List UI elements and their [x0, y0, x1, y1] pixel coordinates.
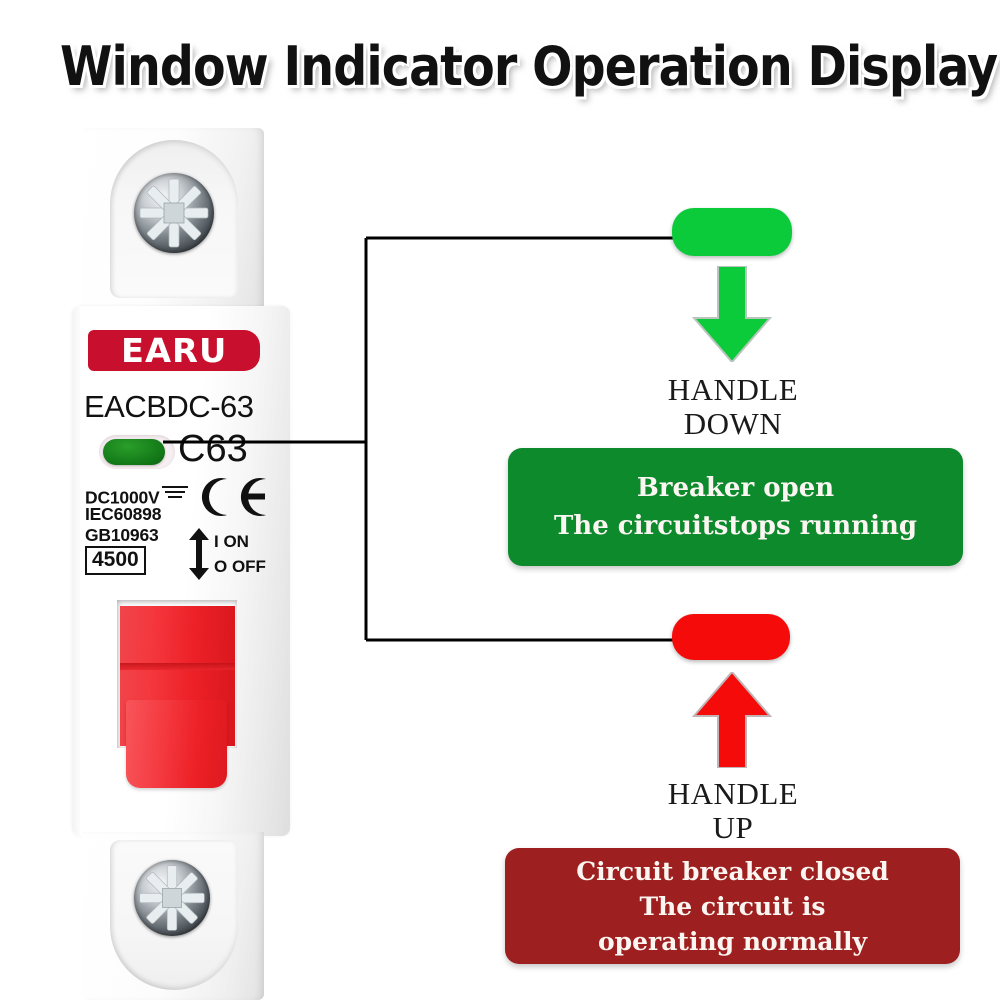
handle-up-title-line1: HANDLE [563, 777, 903, 811]
handle-up-title-line2: UP [563, 811, 903, 845]
switch-legend: I ON O OFF [188, 528, 298, 580]
handle-up-title: HANDLE UP [563, 777, 903, 845]
circuit-breaker-device: EARU EACBDC-63 C63 DC1000V IEC60898 GB10… [0, 0, 340, 1000]
handle-down-title-line1: HANDLE [563, 373, 903, 407]
breaker-open-message: Breaker open The circuitstops running [508, 448, 963, 566]
red-window-pill [672, 614, 790, 660]
brand-banner: EARU [88, 330, 260, 371]
ce-mark-icon [196, 474, 274, 520]
arrow-down-icon [688, 266, 776, 362]
toggle-handle-groove [120, 663, 235, 670]
breaking-capacity-box: 4500 [85, 546, 146, 575]
arrow-up-icon [688, 672, 776, 768]
breaker-closed-message: Circuit breaker closed The circuit is op… [505, 848, 960, 964]
breaker-closed-line3: operating normally [598, 924, 867, 959]
up-down-arrow-icon [188, 528, 210, 580]
window-indicator-pill [103, 439, 165, 465]
breaker-open-line1: Breaker open [637, 469, 834, 507]
handle-down-title: HANDLE DOWN [563, 373, 903, 441]
handle-down-title-line2: DOWN [563, 407, 903, 441]
brand-name: EARU [121, 334, 227, 367]
breaker-closed-line2: The circuit is [640, 889, 826, 924]
breaker-closed-line1: Circuit breaker closed [576, 854, 888, 889]
bottom-terminal-screw-icon [134, 860, 210, 936]
switch-off-label: O OFF [214, 554, 266, 579]
spec-standard-iec: IEC60898 [85, 504, 161, 525]
toggle-handle-lever[interactable] [126, 700, 227, 788]
switch-on-label: I ON [214, 529, 266, 554]
green-window-pill [672, 208, 792, 256]
spec-standard-gb: GB10963 [85, 525, 159, 546]
switch-legend-labels: I ON O OFF [214, 529, 266, 579]
current-rating: C63 [178, 428, 248, 470]
dc-symbol-icon [162, 483, 188, 501]
model-number: EACBDC-63 [84, 390, 254, 424]
breaker-open-line2: The circuitstops running [554, 507, 917, 545]
top-terminal-screw-icon [134, 173, 214, 253]
